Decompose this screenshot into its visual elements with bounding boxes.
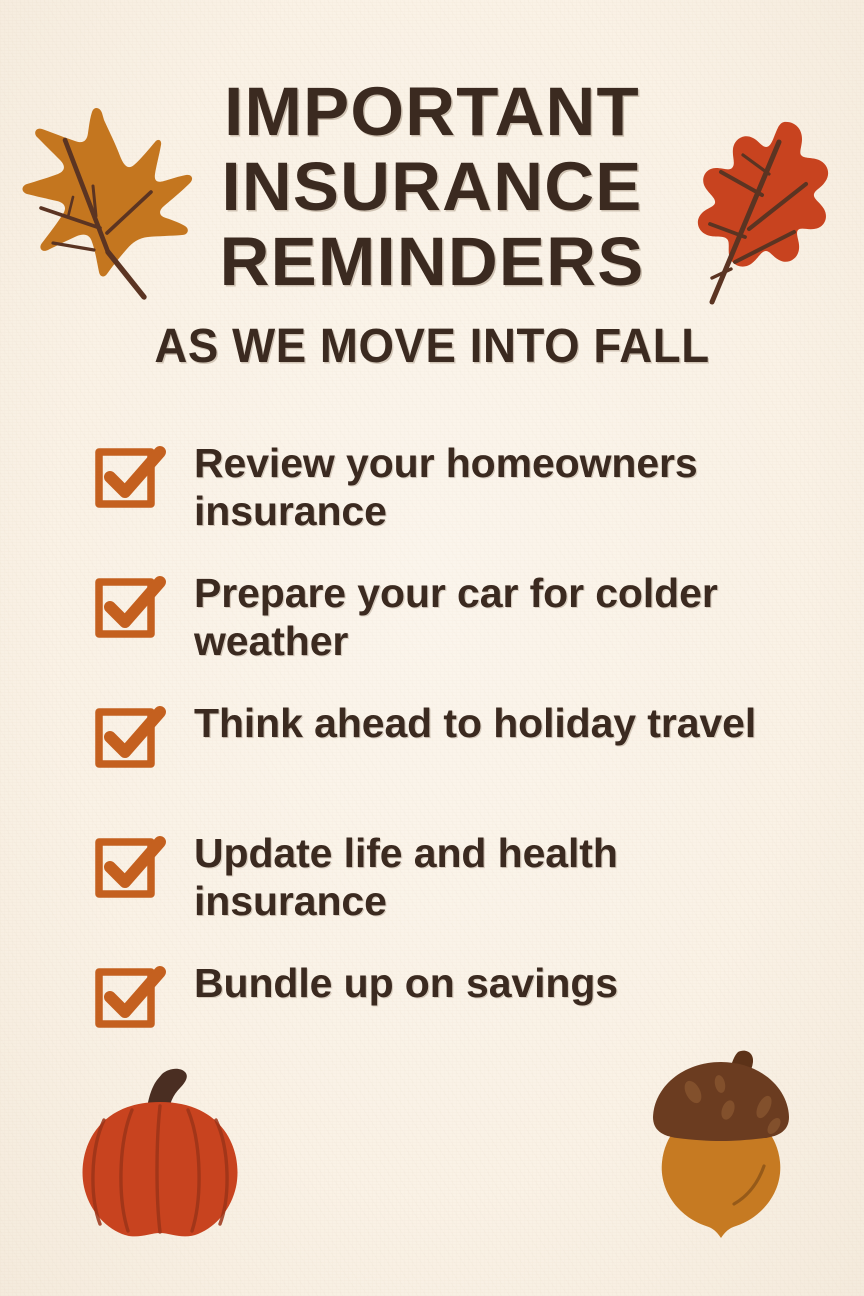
list-item-label: Prepare your car for colder weather: [194, 567, 792, 665]
list-item-label: Review your homeowners insurance: [194, 437, 792, 535]
reminders-checklist: Review your homeowners insurance Prepare…: [92, 437, 792, 1037]
list-item-label: Bundle up on savings: [194, 957, 792, 1007]
list-item-label: Update life and health insurance: [194, 827, 792, 925]
title-line-1: IMPORTANT: [0, 74, 864, 149]
list-item[interactable]: Think ahead to holiday travel: [92, 697, 792, 827]
list-item[interactable]: Prepare your car for colder weather: [92, 567, 792, 697]
checked-checkbox-icon[interactable]: [92, 831, 168, 905]
fall-insurance-reminders-poster: Review your homeowners insurance Prepare…: [0, 0, 864, 1296]
page-subtitle: AS WE MOVE INTO FALL: [22, 320, 843, 374]
list-item-label: Think ahead to holiday travel: [194, 697, 792, 747]
checked-checkbox-icon[interactable]: [92, 571, 168, 645]
checked-checkbox-icon[interactable]: [92, 961, 168, 1035]
acorn-icon: [622, 1044, 820, 1248]
list-item[interactable]: Review your homeowners insurance: [92, 437, 792, 567]
title-line-2: INSURANCE: [0, 149, 864, 224]
title-line-3: REMINDERS: [0, 224, 864, 299]
page-title: IMPORTANT INSURANCE REMINDERS: [0, 74, 864, 299]
pumpkin-icon: [52, 1058, 268, 1248]
list-item[interactable]: Bundle up on savings: [92, 957, 792, 1037]
checked-checkbox-icon[interactable]: [92, 441, 168, 515]
checked-checkbox-icon[interactable]: [92, 701, 168, 775]
list-item[interactable]: Update life and health insurance: [92, 827, 792, 957]
